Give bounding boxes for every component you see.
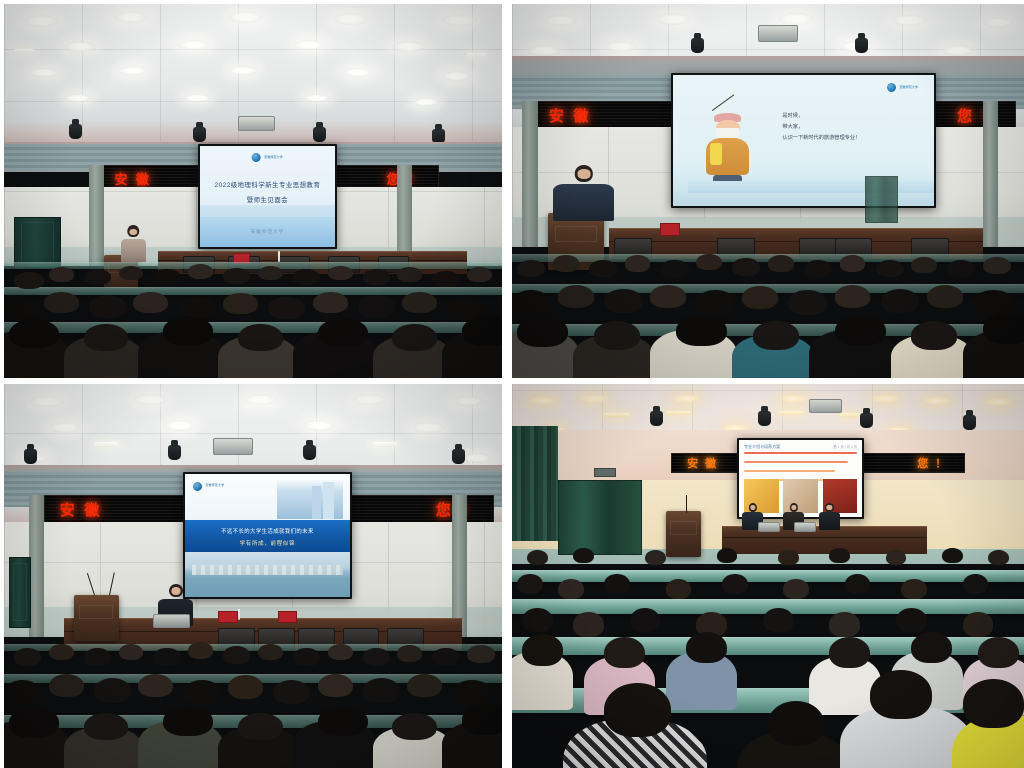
stage-spotlight [24,449,37,464]
audience-head [722,574,748,594]
ceiling-light [178,40,210,50]
slide-footer-text: 安徽师范大学 [200,229,334,235]
audience-head [732,258,760,276]
audience-head [768,701,824,746]
audience-head [273,680,310,705]
audience-head [522,608,553,632]
lecture-hall-scene: 安 徽 您 ！ 安徽师范大学 [512,4,1024,378]
ceiling-projector [238,116,275,131]
audience-head [886,550,906,566]
audience-head [318,674,353,697]
audience-head [119,644,144,661]
audience-head [467,267,492,282]
photo-panel-bottom-right: 安 徽 您 ！ 专业介绍与培养方案 第 1 页 / 共 1 页 [512,384,1024,768]
audience-head [89,295,126,317]
audience [4,630,502,768]
slide-text-bar [744,461,848,463]
ceiling-troffer [94,442,119,447]
photo-panel-top-right: 安 徽 您 ！ 安徽师范大学 [512,4,1024,378]
audience-head [645,550,665,566]
table-nameplate [218,611,237,623]
audience-head [188,642,213,659]
audience-head [947,260,975,278]
stage-curtain [512,426,558,541]
stage-spotlight [691,38,704,53]
audience-head [84,269,111,285]
projection-screen-frame: 安徽师范大学 不远不长的大学生活成就我们的未来 学有所成，前程似锦 [183,472,351,599]
laptop [758,522,780,532]
audience-head [686,632,727,663]
ceiling-troffer [14,49,34,53]
audience-head [163,316,213,346]
audience-head [753,321,799,349]
audience-head [835,285,871,308]
slide-line-3: 认识一下新时代的旅游管理专业！ [782,133,860,144]
desk-row [4,644,502,652]
audience-head [138,674,173,697]
audience-head [14,648,41,666]
led-banner-left-text: 安 徽 [687,455,718,471]
audience-head [402,292,437,313]
slide-text-bars [744,452,857,474]
slide-line-1: 不远不长的大学生活成就我们的未来 [185,527,349,535]
wall-pillar [522,101,537,247]
stage-spotlight [758,411,771,426]
audience-head [4,297,39,319]
audience-head [9,707,59,737]
audience-head [4,680,41,705]
audience-head [258,644,283,661]
audience-head [829,612,860,636]
projection-screen: 安徽师范大学 2022级地理科学新生专业思想教育 暨师生见面会 安徽师范大学 [200,146,334,247]
audience-head [983,313,1024,344]
ceiling-light [778,394,809,403]
laptop [153,614,190,628]
audience-head [911,257,937,273]
ceiling-light [133,394,168,406]
led-banner-left-text: 安 徽 [549,105,591,126]
audience-head [594,321,640,349]
audience-head [604,574,630,594]
audience-head [328,644,353,661]
audience-head [783,579,809,599]
audience [4,255,502,378]
projection-screen: 安徽师范大学 不远不长的大学生活成就我们的未来 学有所成，前程似锦 [185,474,349,597]
ceiling-light [243,394,278,406]
led-banner-left-text: 安 徽 [115,169,152,188]
audience-head [462,704,502,734]
ceiling-light [462,453,492,463]
ceiling-light [983,397,1014,406]
audience-head [328,266,353,281]
audience-head [522,634,563,665]
audience-head [432,648,459,666]
projection-screen-frame: 安徽师范大学 2022级地理科学新生专业思想教育 暨师生见面会 安徽师范大学 [198,144,336,249]
ceiling-light [527,45,560,55]
audience [512,243,1024,378]
ceiling-light [655,13,691,24]
audience-head [696,254,722,270]
audience-head [223,268,250,284]
audience-head [133,292,168,313]
audience-head [512,290,550,314]
ceiling-troffer [778,411,804,416]
audience-head [153,648,180,666]
audience-head [963,574,989,594]
lecture-hall-scene-warm: 安 徽 您 ！ 专业介绍与培养方案 第 1 页 / 共 1 页 [512,384,1024,768]
ceiling-light [778,13,814,24]
panelist-face [750,505,755,510]
slide-text-bar [744,470,834,472]
stage-spotlight [650,411,663,426]
slide-heading: 专业介绍与培养方案 [744,444,780,450]
audience-head [896,608,927,632]
audience-head [84,324,129,351]
audience-head [573,612,604,636]
audience-head [462,316,502,346]
audience-head [911,321,957,349]
audience-head [397,645,422,662]
audience-head [604,289,642,313]
audience-head [558,579,584,599]
audience-head [397,267,422,282]
audience-head [49,267,74,282]
lecture-hall-scene: 安 徽 您 ！ 安徽师范大学 2022级地理科学新生专业思想教育 暨师生见面会 [4,4,502,378]
audience-head [804,260,832,278]
audience-head [84,648,111,666]
audience-head [392,713,437,741]
ceiling-troffer [373,442,398,447]
audience-head [911,632,952,663]
audience-head [268,297,305,319]
audience-head [983,257,1011,275]
audience-head [163,706,213,736]
audience [512,545,1024,768]
audience-head [318,318,368,348]
audience-head [527,550,547,566]
ceiling-light [293,40,325,50]
audience-head [876,260,904,278]
audience-head [84,713,129,741]
audience-head [676,315,727,346]
slide-page-note: 第 1 页 / 共 1 页 [833,444,857,449]
ceiling-light [452,396,484,407]
ceiling-projector [758,25,798,42]
audience-head [742,286,778,309]
audience-head [901,579,927,599]
audience-head [49,644,74,661]
side-door [9,557,31,628]
speaker-face [130,229,137,236]
audience-head [293,648,320,666]
stage-spotlight [963,415,976,430]
led-banner-right-text: 您 ！ [917,455,948,471]
audience-head [963,612,994,636]
stage-spotlight [168,445,181,460]
audience-head [293,269,320,285]
ceiling-light [412,422,444,433]
panelist-face [827,505,832,510]
audience-head [153,269,180,285]
cartoon-scarf [710,143,723,165]
campus-building-photo [277,479,343,518]
audience-head [318,706,368,736]
wall-pillar [89,165,104,266]
slide-text-bar [744,452,857,454]
university-logo: 安徽师范大学 [193,482,224,491]
university-logo-text: 安徽师范大学 [899,86,918,89]
audience-head [467,645,494,663]
audience-head [942,548,962,564]
audience-head [363,648,390,666]
lecture-hall-scene: 安 徽 您 ！ 安徽师范大学 [4,384,502,768]
ceiling-light [870,394,901,403]
audience-head [258,266,283,281]
table-nameplate [278,611,297,623]
ceiling-light [114,11,149,22]
audience-head [660,260,688,278]
audience-head [988,550,1008,566]
audience-head [452,680,492,705]
audience-head [881,289,919,313]
audience-head [604,637,645,668]
ceiling-light [604,41,637,51]
ceiling-light [64,41,96,51]
ceiling-light [942,45,975,55]
audience-head [870,670,931,719]
audience-head [963,679,1024,728]
audience-head [238,713,283,741]
campus-lake-photo [185,552,349,597]
panelist-body [819,512,839,530]
audience-head [119,266,144,281]
audience-head [183,680,220,705]
ceiling-troffer [467,53,487,57]
stage-spotlight [313,127,326,142]
audience-head [358,295,395,317]
ceiling-light [922,396,953,405]
university-emblem-icon [193,482,202,491]
side-door [558,480,642,555]
side-equipment [865,176,898,223]
speaker-face [171,587,180,595]
ceiling-light [442,71,472,81]
audience-head [407,674,442,697]
slide-body-text: 是时候， 带大家， 认识一下新时代的旅游管理专业！ [782,111,860,145]
audience-head [845,574,871,594]
university-emblem-icon [252,153,261,162]
speaker-face [577,169,590,179]
slide-line-2: 带大家， [782,122,860,133]
audience-head [558,285,594,308]
ceiling-light [343,68,373,78]
audience-head [44,292,79,313]
audience-head [835,315,886,346]
led-banner-left-text: 安 徽 [60,499,102,520]
stage-spotlight [855,38,868,53]
audience-head [788,290,826,314]
ceiling-light [29,396,64,408]
audience-head [625,255,651,271]
audience-head [517,260,545,278]
laptop [794,522,816,532]
ceiling-light [671,394,702,403]
photo-panel-top-left: 安 徽 您 ！ 安徽师范大学 2022级地理科学新生专业思想教育 暨师生见面会 [4,4,502,378]
desk-row [512,570,1024,582]
university-logo: 安徽师范大学 [252,153,283,162]
audience-head [973,290,1014,314]
audience-head [363,269,390,285]
water-bottle [238,609,240,621]
panelist-face [791,505,796,510]
wall-pillar [452,495,467,637]
ceiling-light [412,98,439,107]
university-logo: 安徽师范大学 [887,83,918,92]
audience-head [14,272,44,289]
ceiling-light [228,11,263,22]
wall-pillar [29,495,44,637]
audience-head [573,548,593,564]
audience-head [696,290,734,314]
audience-head [363,678,400,703]
audience-head [778,550,798,566]
university-logo-text: 安徽师范大学 [205,484,224,487]
microphone [686,495,687,512]
photo-collage: 安 徽 您 ！ 安徽师范大学 2022级地理科学新生专业思想教育 暨师生见面会 [0,0,1024,768]
slide-line-2: 学有所成，前程似锦 [185,539,349,547]
audience-head [517,574,543,594]
slide-title: 安徽师范大学 2022级地理科学新生专业思想教育 暨师生见面会 安徽师范大学 [200,146,334,247]
audience-head [630,608,661,632]
audience-head [829,637,870,668]
slide-line-1: 2022级地理科学新生专业思想教育 [200,180,334,189]
audience-head [238,324,283,351]
audience-head [517,316,568,347]
panelist-3 [819,503,839,530]
audience-head [927,285,963,308]
speaker-body [553,184,614,221]
university-emblem-icon [887,83,896,92]
table-nameplate [660,223,680,236]
audience-head [666,579,692,599]
audience-head [829,548,849,564]
ceiling-light [392,41,424,51]
slide-campus-title: 安徽师范大学 不远不长的大学生活成就我们的未来 学有所成，前程似锦 [185,474,349,597]
speaker-lecturer [553,165,614,221]
ceiling-troffer [666,411,692,416]
audience-head [49,674,84,697]
slide-line-1: 是时候， [782,111,860,122]
audience-head [978,637,1019,668]
audience-head [604,683,671,736]
audience-head [768,255,794,271]
ceiling-light [983,17,1014,27]
university-logo-text: 安徽师范大学 [264,156,283,159]
stage-spotlight [860,413,873,428]
photo-panel-bottom-left: 安 徽 您 ！ 安徽师范大学 [4,384,502,768]
audience-head [717,548,737,564]
stage-spotlight [69,124,82,139]
audience-head [228,675,263,698]
ceiling-light [29,68,59,78]
audience-head [650,285,686,308]
audience-head [432,271,459,287]
ceiling-projector [213,438,252,455]
audience-head [763,608,794,632]
audience-head [223,646,250,664]
ceiling-light [579,394,610,403]
audience-head [840,255,866,271]
wall-pillar [983,101,998,247]
audience-head [94,678,131,703]
ceiling-light [527,396,558,405]
audience-head [313,292,348,313]
audience-head [9,319,59,349]
stage-spotlight [452,449,465,464]
audience-head [188,264,213,279]
ceiling-troffer [604,413,630,418]
ceiling-projector [809,399,842,413]
exit-sign [594,468,616,477]
audience-head [553,255,579,271]
ceiling-light [333,13,368,24]
audience-head [589,260,617,278]
slide-line-2: 暨师生见面会 [200,195,334,204]
audience-head [223,293,258,314]
cartoon-professor-illustration [701,112,753,185]
audience-head [392,324,437,351]
stage-spotlight [303,445,316,460]
desk-row [4,262,502,269]
stage-spotlight [193,127,206,142]
